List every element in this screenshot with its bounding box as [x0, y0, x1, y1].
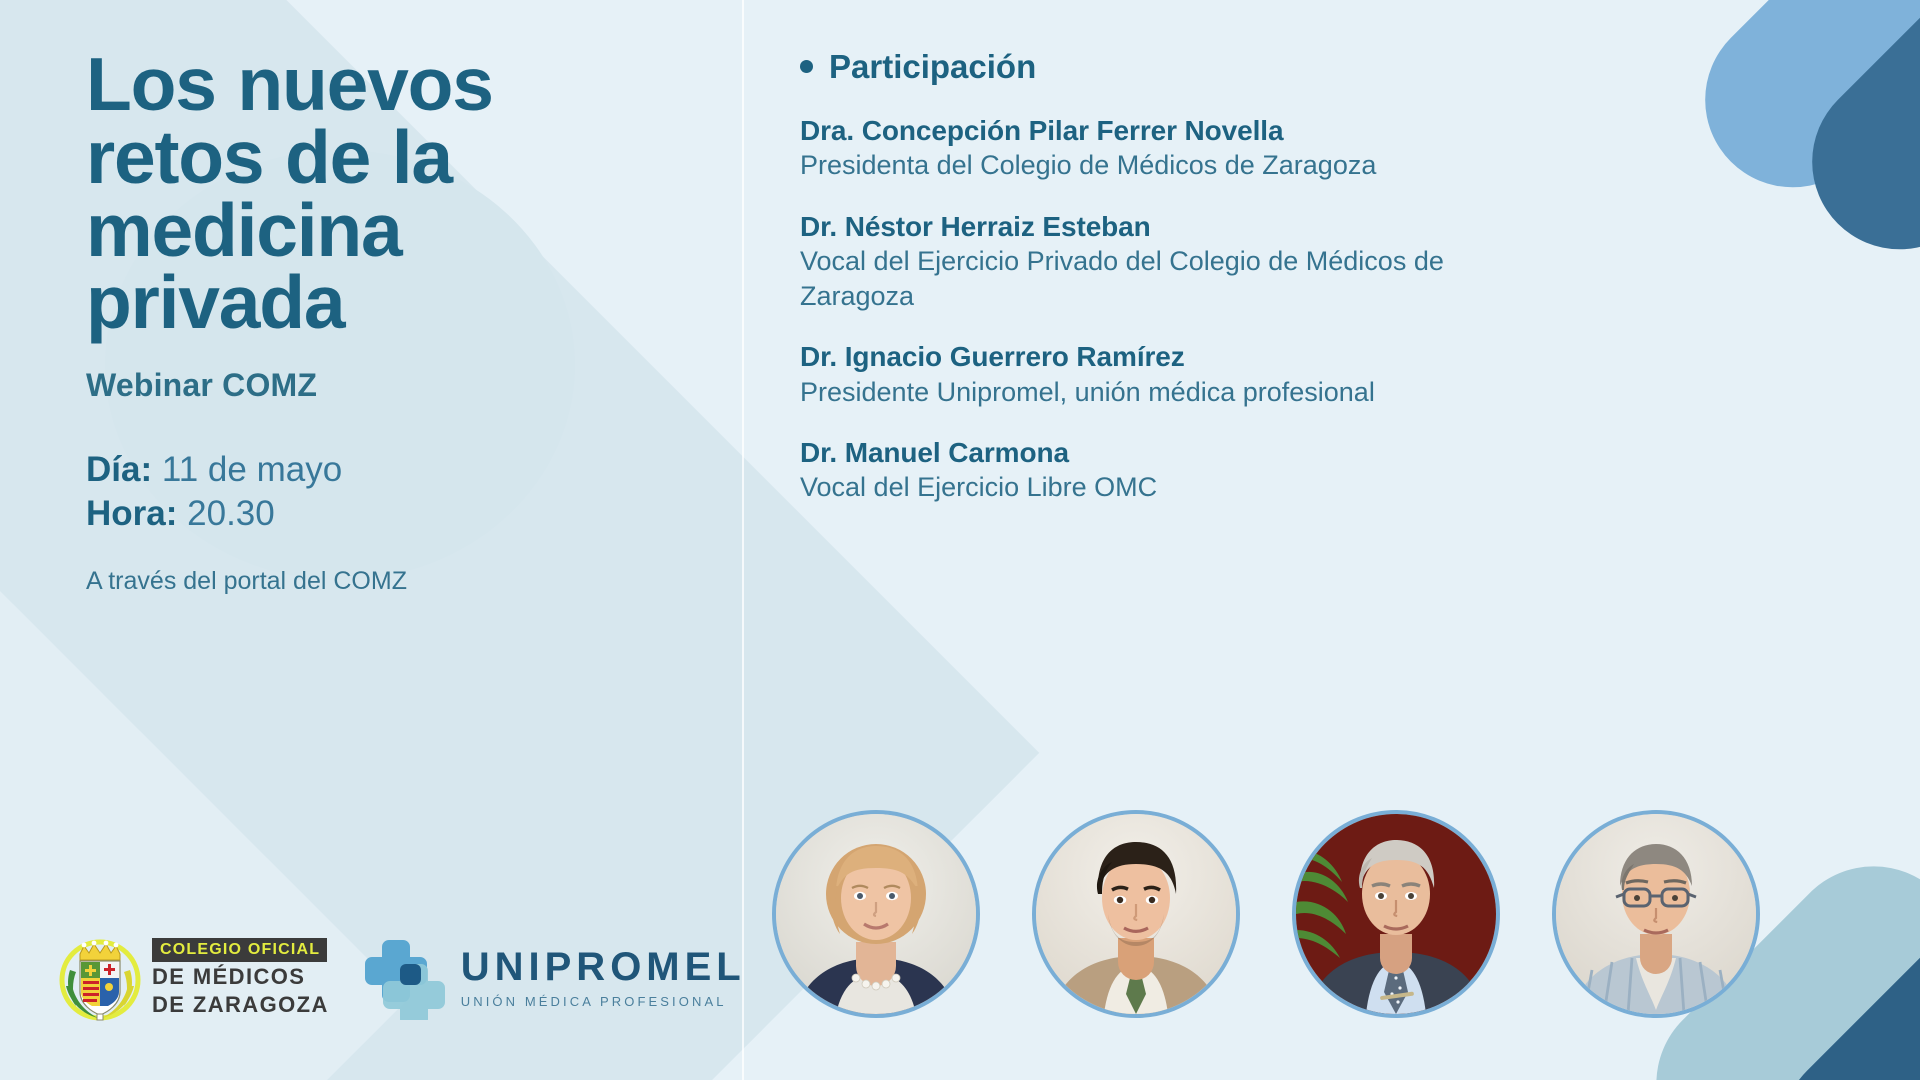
title-line-3: medicina — [86, 194, 706, 267]
participant-role: Vocal del Ejercicio Privado del Colegio … — [800, 244, 1500, 315]
bottom-right-pill-dark — [1743, 858, 1920, 1080]
bullet-dot-icon — [800, 60, 813, 73]
participant-role: Presidente Unipromel, unión médica profe… — [800, 375, 1500, 410]
participant-name: Dra. Concepción Pilar Ferrer Novella — [800, 114, 1580, 148]
portrait-ignacio-guerrero — [1292, 810, 1500, 1018]
participant-entry: Dra. Concepción Pilar Ferrer Novella Pre… — [800, 114, 1580, 184]
participant-name: Dr. Ignacio Guerrero Ramírez — [800, 340, 1580, 374]
event-day-row: Día: 11 de mayo — [86, 448, 706, 492]
day-label: Día: — [86, 450, 152, 489]
day-value: 11 de mayo — [162, 450, 342, 489]
participant-entry: Dr. Ignacio Guerrero Ramírez Presidente … — [800, 340, 1580, 410]
page-title: Los nuevos retos de la medicina privada — [86, 48, 706, 339]
portrait-nestor-herraiz — [1032, 810, 1240, 1018]
top-right-pill-light — [1669, 0, 1920, 224]
avatar — [1296, 814, 1496, 1014]
title-line-2: retos de la — [86, 121, 706, 194]
unipromel-cross-icon — [363, 936, 447, 1020]
unipromel-name: UNIPROMEL — [461, 947, 746, 987]
left-column: Los nuevos retos de la medicina privada … — [86, 48, 706, 596]
portrait-concepcion-ferrer — [772, 810, 980, 1018]
event-datetime: Día: 11 de mayo Hora: 20.30 — [86, 448, 706, 537]
comz-crest-icon — [58, 934, 142, 1022]
event-time-row: Hora: 20.30 — [86, 492, 706, 536]
participation-column: Participación Dra. Concepción Pilar Ferr… — [800, 48, 1580, 505]
participant-name: Dr. Néstor Herraiz Esteban — [800, 210, 1580, 244]
subtitle: Webinar COMZ — [86, 367, 706, 404]
portrait-row — [772, 810, 1760, 1018]
participation-heading: Participación — [800, 48, 1580, 86]
avatar — [1556, 814, 1756, 1014]
participant-entry: Dr. Manuel Carmona Vocal del Ejercicio L… — [800, 436, 1580, 506]
access-note: A través del portal del COMZ — [86, 567, 706, 596]
comz-line-2: DE ZARAGOZA — [152, 993, 329, 1018]
logo-row: COLEGIO OFICIAL DE MÉDICOS DE ZARAGOZA U… — [58, 934, 746, 1022]
unipromel-logo-text: UNIPROMEL UNIÓN MÉDICA PROFESIONAL — [461, 947, 746, 1009]
portrait-manuel-carmona — [1552, 810, 1760, 1018]
unipromel-tagline: UNIÓN MÉDICA PROFESIONAL — [461, 994, 746, 1009]
participation-heading-label: Participación — [829, 48, 1036, 86]
comz-line-1: DE MÉDICOS — [152, 965, 329, 990]
comz-logo: COLEGIO OFICIAL DE MÉDICOS DE ZARAGOZA — [58, 934, 329, 1022]
column-divider — [742, 0, 744, 1080]
unipromel-logo: UNIPROMEL UNIÓN MÉDICA PROFESIONAL — [363, 936, 746, 1020]
avatar — [1036, 814, 1236, 1014]
poster-canvas: Los nuevos retos de la medicina privada … — [0, 0, 1920, 1080]
title-line-1: Los nuevos — [86, 48, 706, 121]
avatar — [776, 814, 976, 1014]
participant-role: Presidenta del Colegio de Médicos de Zar… — [800, 148, 1500, 183]
participant-entry: Dr. Néstor Herraiz Esteban Vocal del Eje… — [800, 210, 1580, 315]
top-right-pill-dark — [1776, 0, 1920, 286]
participant-role: Vocal del Ejercicio Libre OMC — [800, 470, 1500, 505]
time-label: Hora: — [86, 494, 177, 533]
participant-name: Dr. Manuel Carmona — [800, 436, 1580, 470]
time-value: 20.30 — [187, 494, 275, 533]
comz-top-bar-label: COLEGIO OFICIAL — [152, 938, 327, 962]
title-line-4: privada — [86, 266, 706, 339]
comz-logo-text: COLEGIO OFICIAL DE MÉDICOS DE ZARAGOZA — [152, 938, 329, 1018]
